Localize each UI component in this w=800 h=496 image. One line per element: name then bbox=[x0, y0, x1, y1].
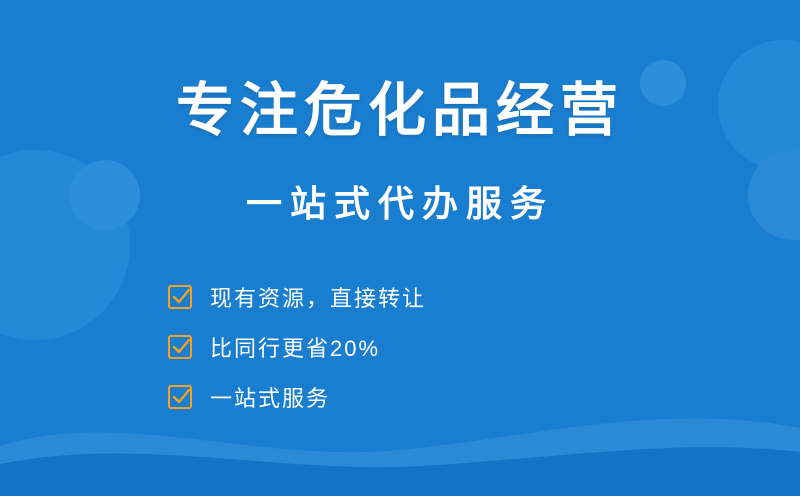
page-title: 专注危化品经营 bbox=[0, 82, 800, 140]
list-item: 比同行更省20% bbox=[168, 322, 588, 372]
check-icon bbox=[168, 285, 192, 309]
banner-content: 专注危化品经营 一站式代办服务 现有资源，直接转让 比同行更省20% bbox=[0, 0, 800, 496]
feature-list: 现有资源，直接转让 比同行更省20% 一站式服务 bbox=[168, 272, 588, 422]
promo-banner: 专注危化品经营 一站式代办服务 现有资源，直接转让 比同行更省20% bbox=[0, 0, 800, 496]
page-subtitle: 一站式代办服务 bbox=[0, 186, 800, 222]
feature-label: 比同行更省20% bbox=[210, 331, 380, 363]
feature-label: 现有资源，直接转让 bbox=[210, 281, 426, 313]
check-icon bbox=[168, 335, 192, 359]
check-icon bbox=[168, 385, 192, 409]
feature-label: 一站式服务 bbox=[210, 381, 330, 413]
list-item: 现有资源，直接转让 bbox=[168, 272, 588, 322]
list-item: 一站式服务 bbox=[168, 372, 588, 422]
